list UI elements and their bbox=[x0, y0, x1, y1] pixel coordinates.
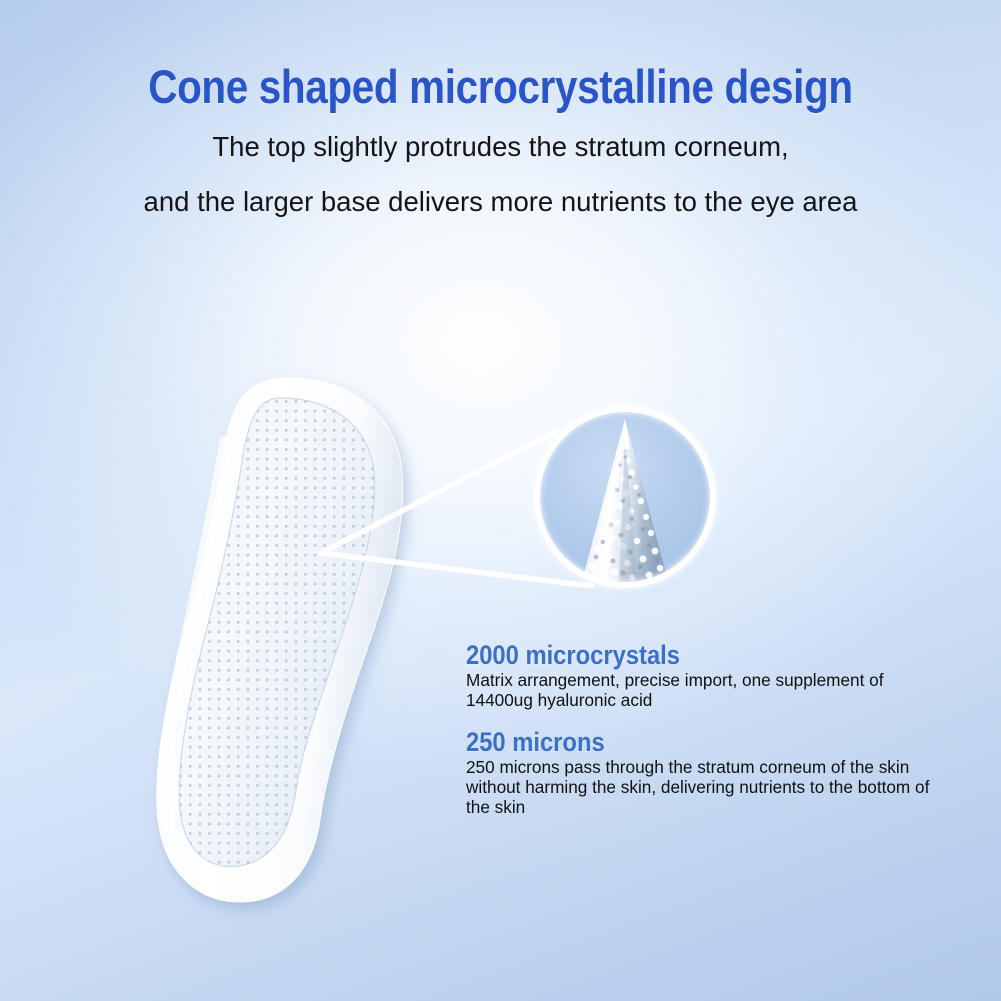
feature-heading: 2000 microcrystals bbox=[466, 640, 906, 670]
magnifier-circle bbox=[533, 405, 717, 589]
feature-heading: 250 microns bbox=[466, 727, 906, 757]
feature-body: 250 microns pass through the stratum cor… bbox=[466, 758, 946, 818]
feature-body: Matrix arrangement, precise import, one … bbox=[466, 671, 946, 711]
header-block: Cone shaped microcrystalline design The … bbox=[0, 0, 1001, 215]
feature-list: 2000 microcrystals Matrix arrangement, p… bbox=[466, 640, 966, 834]
subtitle-line-2: and the larger base delivers more nutrie… bbox=[0, 161, 1001, 216]
subtitle-line-1: The top slightly protrudes the stratum c… bbox=[0, 111, 1001, 161]
eye-patch-illustration bbox=[130, 370, 450, 910]
product-infographic: Cone shaped microcrystalline design The … bbox=[0, 0, 1001, 1001]
page-title: Cone shaped microcrystalline design bbox=[70, 0, 931, 111]
feature-item-microcrystals: 2000 microcrystals Matrix arrangement, p… bbox=[466, 640, 966, 711]
feature-item-microns: 250 microns 250 microns pass through the… bbox=[466, 727, 966, 818]
